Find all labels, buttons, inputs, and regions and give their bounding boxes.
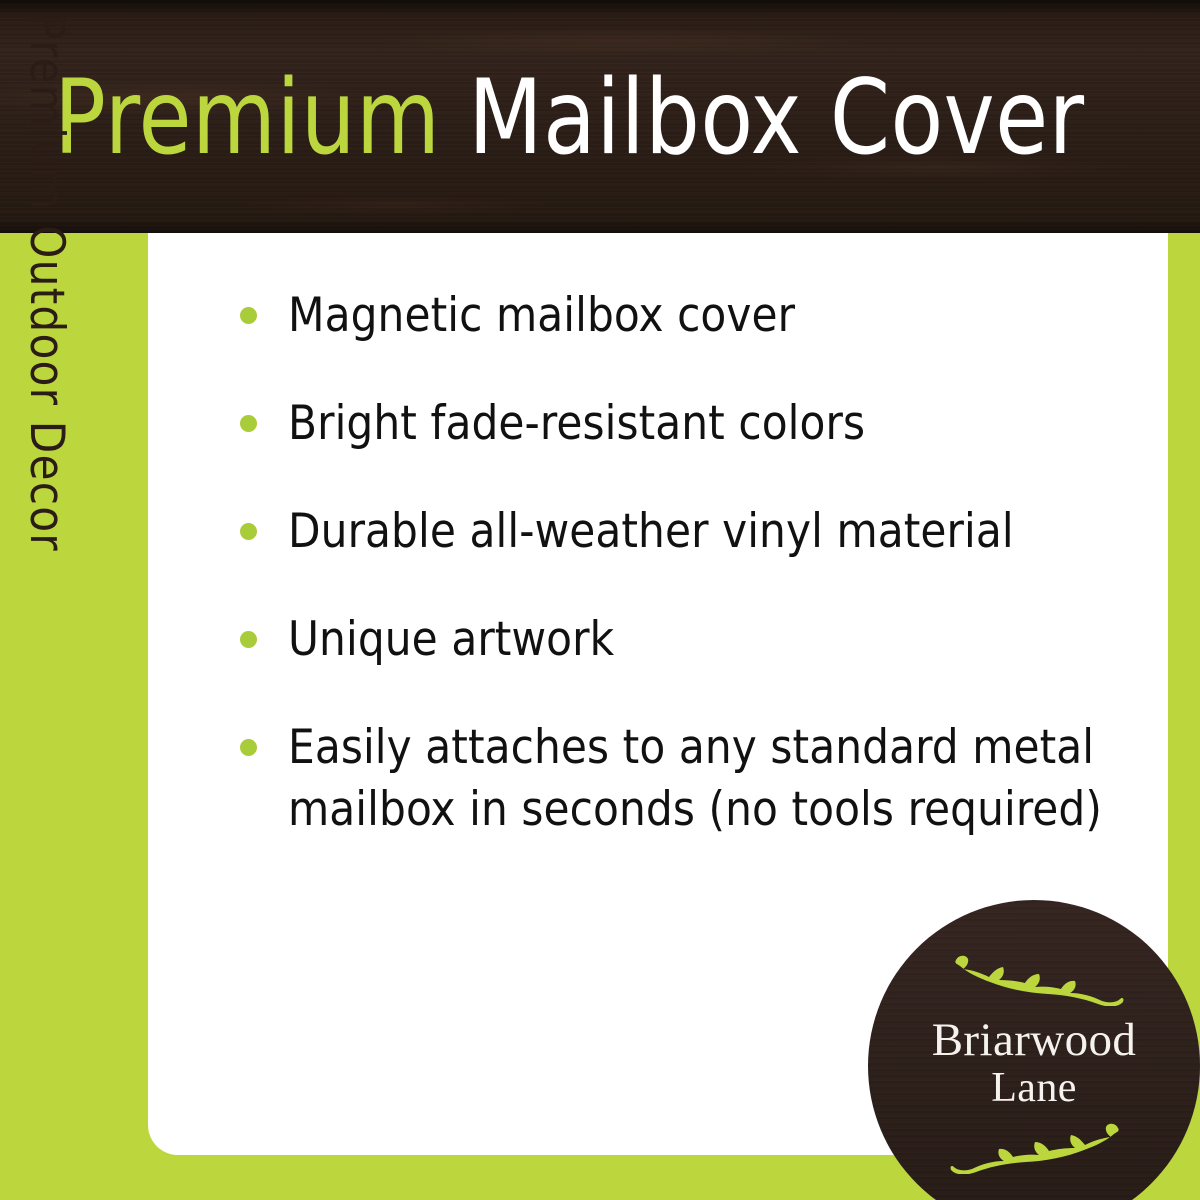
leaf-flourish-icon (948, 1122, 1126, 1174)
brand-name-line2: Lane (868, 1065, 1200, 1112)
bullet-dot-icon (240, 739, 257, 756)
bullet-dot-icon (240, 523, 257, 540)
list-item-label: Easily attaches to any standard metal ma… (288, 720, 1102, 837)
list-item-label: Magnetic mailbox cover (288, 288, 795, 343)
list-item-label: Bright fade-resistant colors (288, 396, 865, 451)
list-item-label: Unique artwork (288, 612, 614, 667)
page-title-main: Mailbox Cover (440, 58, 1084, 178)
page-title: Premium Mailbox Cover (54, 58, 1096, 178)
list-item: Magnetic mailbox cover (236, 285, 1116, 347)
brand-logo-inner: Briarwood Lane (868, 900, 1200, 1200)
list-item-label: Durable all-weather vinyl material (288, 504, 1014, 559)
sidebar: Premium Outdoor Decor (0, 233, 148, 1200)
brand-wordmark: Briarwood Lane (868, 1016, 1200, 1112)
brand-name-line1: Briarwood (868, 1016, 1200, 1065)
brand-logo-badge: Briarwood Lane (868, 900, 1200, 1200)
bullet-dot-icon (240, 307, 257, 324)
list-item: Durable all-weather vinyl material (236, 501, 1116, 563)
header-banner: Premium Mailbox Cover (0, 0, 1200, 233)
feature-list: Magnetic mailbox cover Bright fade-resis… (236, 285, 1116, 841)
bullet-dot-icon (240, 631, 257, 648)
product-infographic: Premium Mailbox Cover Premium Outdoor De… (0, 0, 1200, 1200)
leaf-flourish-icon (948, 954, 1126, 1006)
list-item: Bright fade-resistant colors (236, 393, 1116, 455)
list-item: Unique artwork (236, 609, 1116, 671)
sidebar-vertical-label: Premium Outdoor Decor (19, 14, 74, 552)
bullet-dot-icon (240, 415, 257, 432)
page-title-accent: Premium (54, 58, 440, 178)
list-item: Easily attaches to any standard metal ma… (236, 717, 1116, 841)
